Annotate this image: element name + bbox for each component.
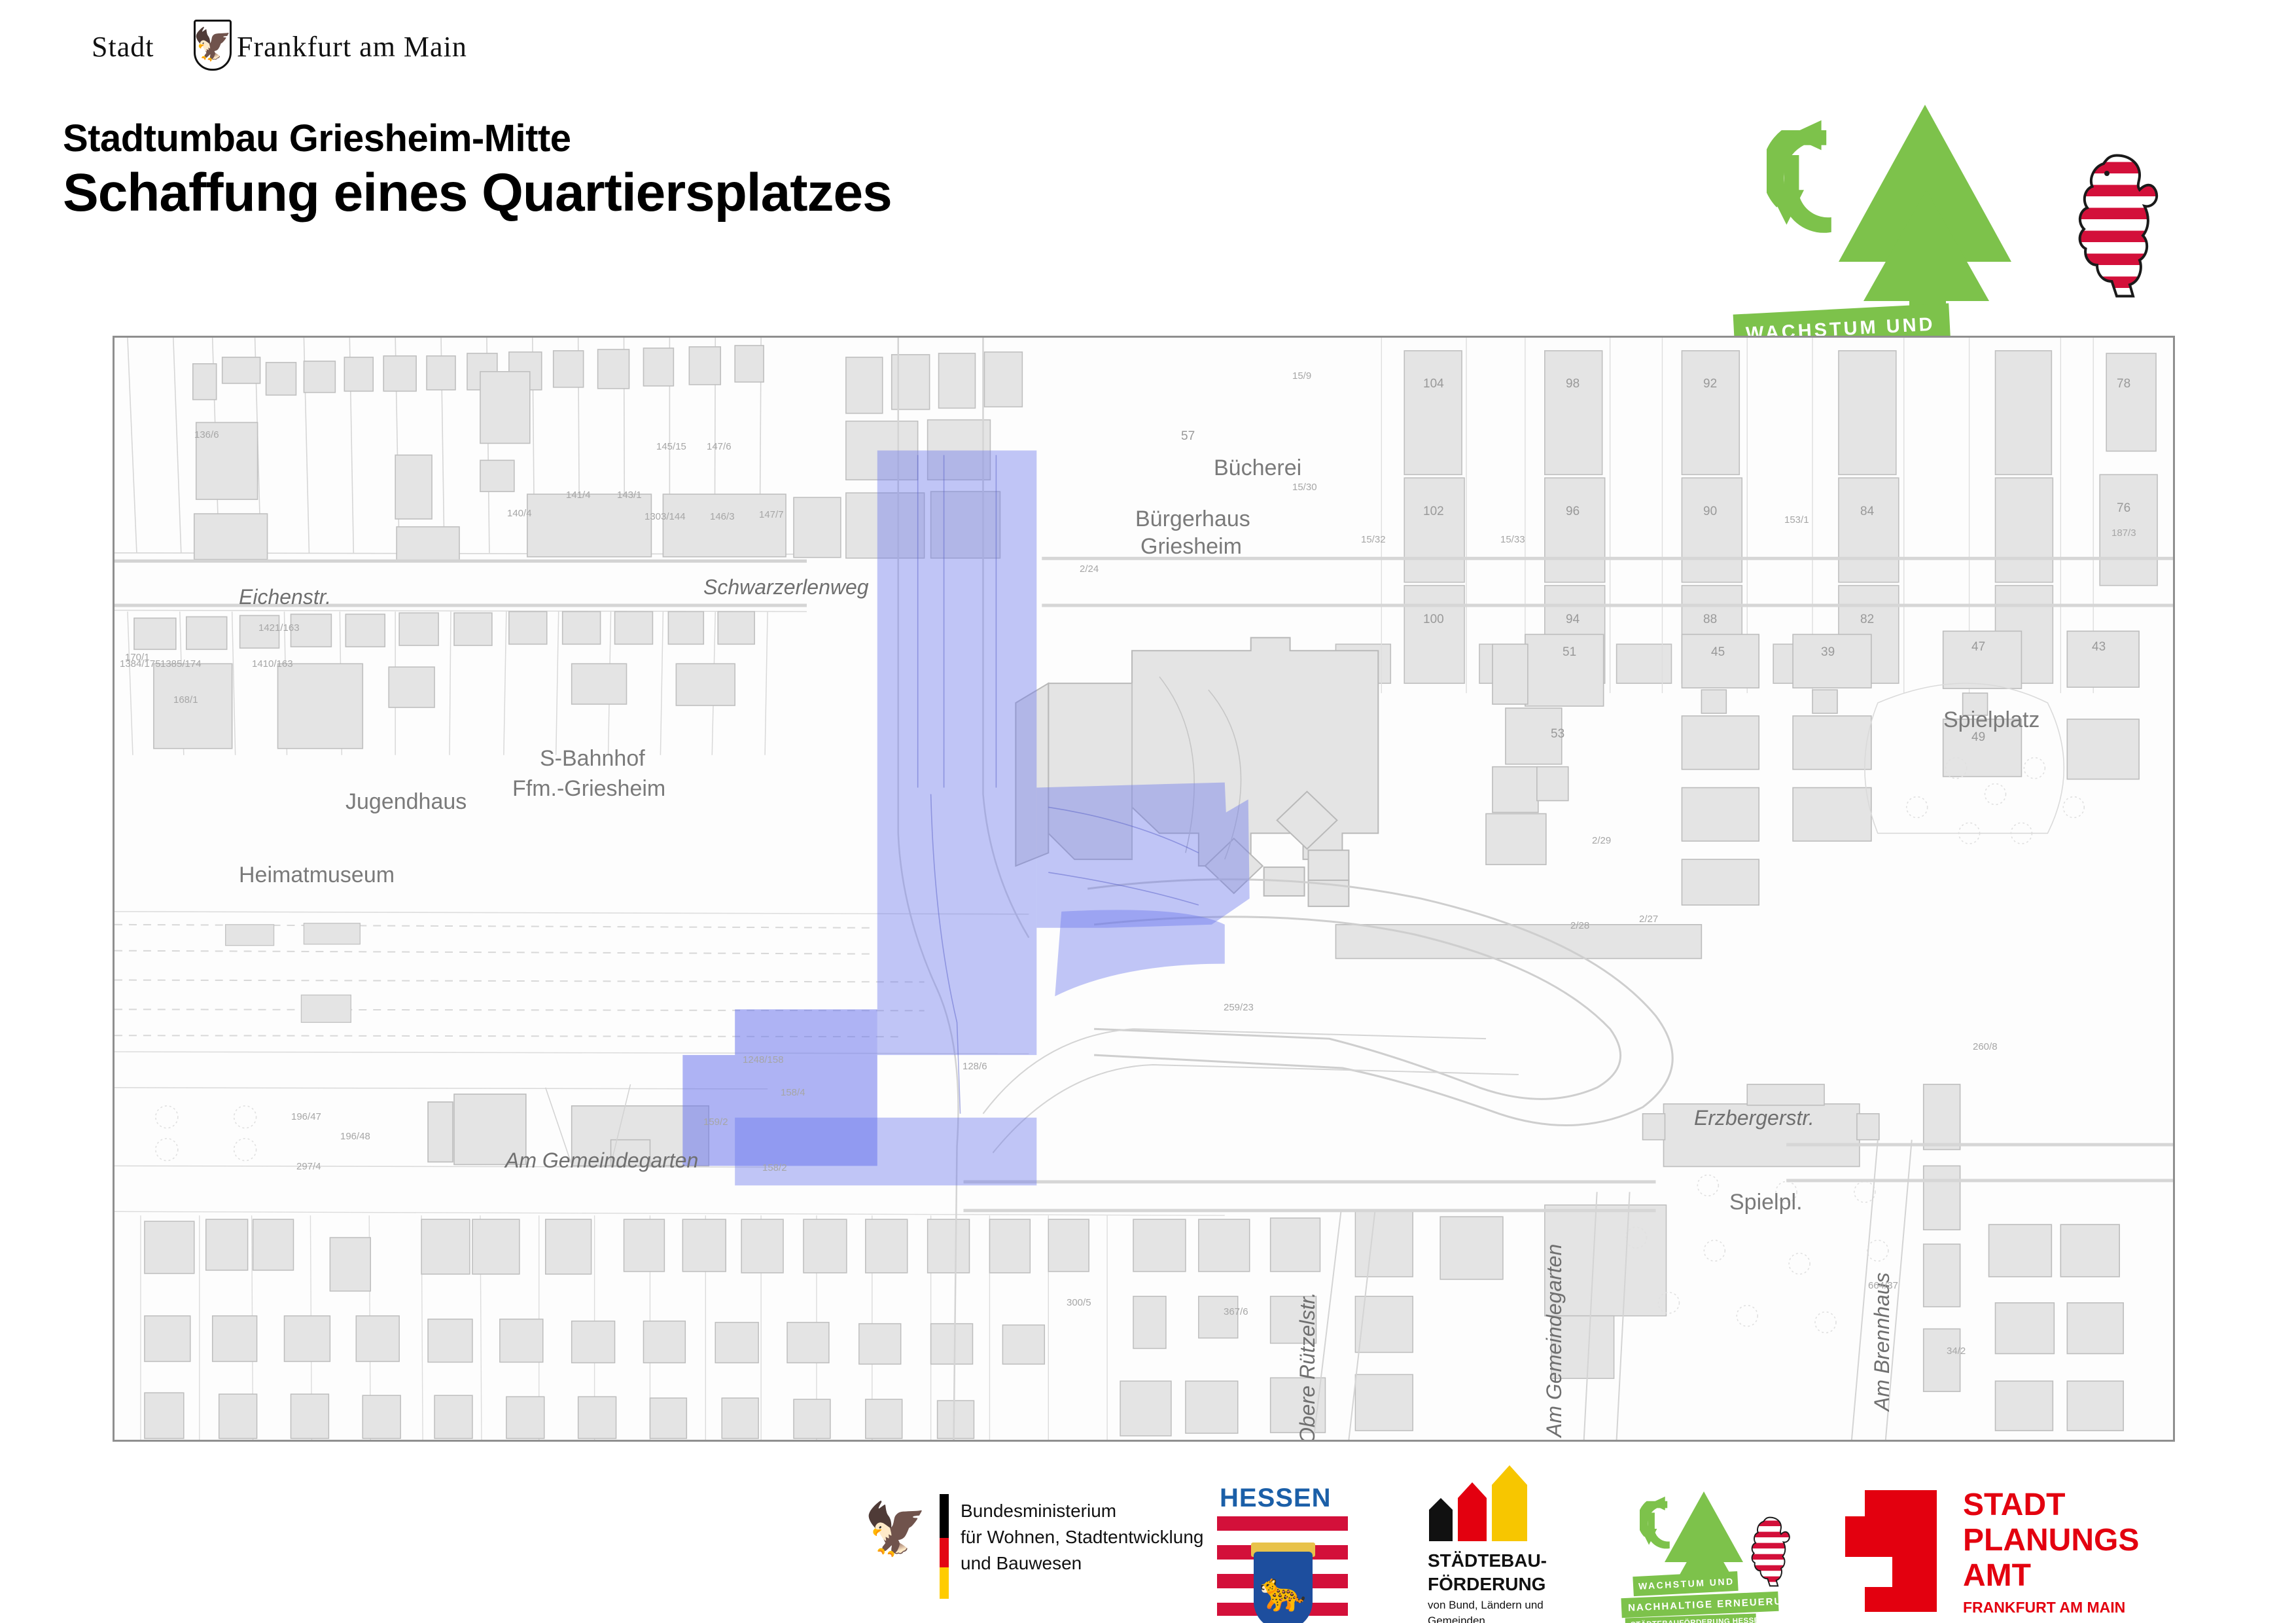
house-number: 78 [2117,377,2130,391]
hessen-lion-icon-small [1746,1515,1794,1588]
parcel-fraction: 196/48 [340,1131,370,1142]
hessen-caption: HESSEN [1220,1484,1332,1513]
poi-label-heimatmuseum: Heimatmuseum [239,863,395,888]
parcel-fraction: 260/8 [1973,1041,1998,1052]
project-title: Schaffung eines Quartiersplatzes [63,162,892,224]
hessen-lion-icon: 🐆 [1260,1573,1307,1611]
parcel-fraction: 15/9 [1292,370,1311,382]
parcel-fraction: 367/6 [1224,1306,1248,1317]
poi-label-spielpl: Spielpl. [1729,1190,1803,1215]
house-number: 45 [1711,645,1725,660]
poster-page: Stadt 🦅 Frankfurt am Main Stadtumbau Gri… [0,0,2296,1623]
parcel-fraction: 34/2 [1947,1346,1966,1357]
house-number: 43 [2092,640,2106,654]
logo-stadtplanungsamt: STADT PLANUNGS AMT FRANKFURT AM MAIN [1845,1490,2212,1614]
parcel-fraction: 158/4 [781,1087,805,1098]
parcel-fraction: 2/28 [1570,920,1589,931]
staedtebau-subtitle: von Bund, Ländern und Gemeinden [1428,1597,1544,1623]
parcel-fraction: 140/4 [507,508,532,519]
house-number: 53 [1551,727,1564,741]
parcel-fraction: 147/6 [707,441,732,452]
parcel-fraction: 146/3 [710,511,735,522]
house-number: 47 [1971,640,1985,654]
house-number: 82 [1860,613,1874,627]
parcel-fraction: 170/1 [125,652,150,663]
program-small-line-1: WACHSTUM UND [1633,1571,1738,1596]
house-shape-black [1429,1510,1453,1541]
poi-label-ffm-griesheim: Ffm.-Griesheim [512,776,665,802]
hessen-shield-icon: 🐆 [1254,1552,1313,1623]
poi-label-spielplatz: Spielplatz [1943,707,2040,733]
house-number: 90 [1703,505,1717,519]
parcel-fraction: 141/4 [566,490,591,501]
poi-label-buergerhaus: Bürgerhaus [1135,507,1250,532]
poi-label-griesheim: Griesheim [1140,534,1242,560]
city-logo-text-stadt: Stadt [92,30,154,63]
parcel-fraction: 300/5 [1067,1297,1091,1308]
parcel-fraction: 159/2 [703,1116,728,1128]
hessen-lion-icon [2068,151,2166,301]
house-number: 84 [1860,505,1874,519]
parcel-fraction: 145/15 [656,441,686,452]
parcel-fraction: 2/27 [1639,914,1658,925]
parcel-fraction: 664/37 [1868,1280,1898,1291]
city-logo-text-frankfurt: Frankfurt am Main [237,30,467,63]
project-subtitle: Stadtumbau Griesheim-Mitte [63,116,571,160]
parcel-fraction: 168/1 [173,694,198,705]
house-number: 39 [1821,645,1835,660]
street-label-obere-ruetzelstr: Obere Rützelstr. [1296,1169,1320,1442]
house-number: 49 [1971,730,1985,745]
house-number: 51 [1563,645,1576,660]
logo-bundesministerium: 🦅 Bundesministerium für Wohnen, Stadtent… [864,1489,1171,1607]
house-number: 88 [1703,613,1717,627]
street-label-schwarzerlenweg: Schwarzerlenweg [703,575,869,599]
house-number: 102 [1423,505,1444,519]
poi-label-jugendhaus: Jugendhaus [345,789,467,815]
parcel-fraction: 196/47 [291,1111,321,1122]
bmwsb-text: Bundesministerium für Wohnen, Stadtentwi… [961,1498,1203,1577]
street-label-am-gemeindegarten-vertical: Am Gemeindegarten [1542,1149,1566,1437]
parcel-fraction: 2/29 [1592,835,1611,846]
parcel-fraction: 15/30 [1292,482,1317,493]
german-flag-bar [940,1494,949,1599]
parcel-fraction: 1421/163 [258,622,300,633]
house-number: 96 [1566,505,1580,519]
parcel-fraction: 1385/174 [160,658,202,669]
house-number: 92 [1703,377,1717,391]
frankfurt-eagle-crest-icon: 🦅 [194,20,232,71]
poster-header: Stadt 🦅 Frankfurt am Main Stadtumbau Gri… [0,0,2296,327]
house-number: 94 [1566,613,1580,627]
stadtplanungsamt-text: STADT PLANUNGS AMT [1963,1488,2139,1594]
parcel-fraction: 2/24 [1080,563,1099,575]
parcel-fraction: 147/7 [759,509,784,520]
street-label-am-gemeindegarten-horizontal: Am Gemeindegarten [505,1149,698,1173]
logo-hessen: HESSEN 🐆 [1217,1484,1354,1614]
parcel-fraction: 15/33 [1500,534,1525,545]
house-number: 76 [2117,501,2130,516]
bundesadler-icon: 🦅 [864,1503,927,1554]
street-label-eichenstr: Eichenstr. [239,585,331,609]
funding-logo-bar: 🦅 Bundesministerium für Wohnen, Stadtent… [0,1482,2296,1623]
map-drawing [115,338,2173,1440]
parcel-fraction: 143/1 [617,490,642,501]
house-number: 98 [1566,377,1580,391]
cadastral-map[interactable]: Eichenstr. Schwarzerlenweg Erzbergerstr.… [113,336,2175,1442]
parcel-fraction: 136/6 [194,429,219,440]
parcel-fraction: 1410/163 [252,658,293,669]
parcel-fraction: 153/1 [1784,514,1809,526]
city-of-frankfurt-logo: Stadt 🦅 Frankfurt am Main [92,25,510,71]
street-label-erzbergerstr: Erzbergerstr. [1694,1106,1814,1130]
staedtebau-title: STÄDTEBAU- FÖRDERUNG [1428,1549,1547,1596]
parcel-fraction: 1303/144 [645,511,686,522]
logo-staedtebaufoerderung: STÄDTEBAU- FÖRDERUNG von Bund, Ländern u… [1420,1489,1623,1617]
poi-label-buecherei: Bücherei [1214,455,1301,481]
house-shape-red [1458,1498,1487,1541]
parcel-fraction: 187/3 [2111,527,2136,539]
parcel-fraction: 15/32 [1361,534,1386,545]
stadtplanungsamt-mark-icon [1845,1490,1937,1612]
poi-label-s-bahnhof: S-Bahnhof [540,746,645,772]
parcel-fraction: 128/6 [963,1061,987,1072]
house-shape-yellow [1492,1485,1527,1541]
house-number: 100 [1423,613,1444,627]
parcel-fraction: 158/2 [762,1162,787,1173]
house-number: 57 [1181,429,1195,444]
house-number: 104 [1423,377,1444,391]
parcel-fraction: 297/4 [296,1161,321,1172]
logo-program-small: WACHSTUM UND NACHHALTIGE ERNEUERUNG STÄD… [1636,1497,1826,1614]
parcel-fraction: 1248/158 [743,1054,784,1065]
stadtplanungsamt-subtitle: FRANKFURT AM MAIN [1963,1599,2125,1616]
parcel-fraction: 259/23 [1224,1002,1254,1013]
